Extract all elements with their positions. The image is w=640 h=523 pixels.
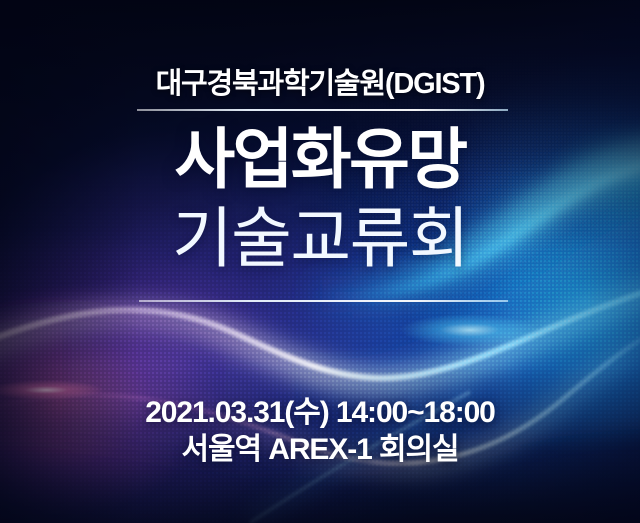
poster-content: 대구경북과학기술원(DGIST) 사업화유망 기술교류회 2021.03.31(… — [0, 0, 640, 523]
event-poster: 대구경북과학기술원(DGIST) 사업화유망 기술교류회 2021.03.31(… — [0, 0, 640, 523]
divider-line-bottom — [139, 300, 508, 302]
organization-name: 대구경북과학기술원(DGIST) — [0, 68, 640, 100]
event-venue: 서울역 AREX-1 회의실 — [0, 424, 640, 468]
poster-title-primary: 사업화유망 — [0, 126, 640, 192]
divider-line-top — [137, 109, 508, 111]
poster-title-secondary: 기술교류회 — [0, 205, 640, 271]
